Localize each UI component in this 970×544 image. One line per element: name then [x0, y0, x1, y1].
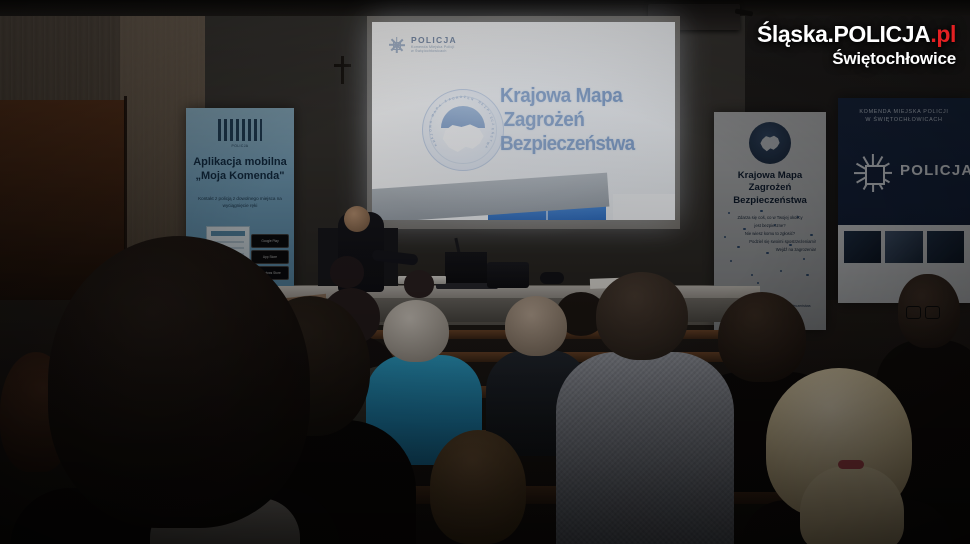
police-star-icon — [388, 36, 405, 53]
emblem-ring-text: KRAJOWA MAPA ZAGROŻEŃ BEZPIECZEŃSTWA — [423, 90, 503, 170]
watermark-tld: .pl — [930, 21, 956, 47]
watermark-line2: Świętochłowice — [757, 49, 956, 68]
banner-right-header: KOMENDA MIEJSKA POLICJI W ŚWIĘTOCHŁOWICA… — [844, 108, 964, 124]
banner-mid-body-line5: Wejdź na zagrozenia! — [724, 246, 816, 254]
slide-logo-title: POLICJA — [411, 36, 457, 45]
store-badge-google-play: Google Play — [251, 234, 289, 248]
audience-head — [505, 296, 567, 356]
slide-policja-logo: POLICJA Komenda Miejska Policji w Święto… — [388, 36, 457, 54]
av-equipment-box — [487, 262, 529, 288]
banner-right-header-line2: W ŚWIĘTOCHŁOWICACH — [844, 116, 964, 124]
banner-right-photo-strip — [844, 231, 964, 263]
audience-head — [404, 270, 434, 298]
banner-mid-emblem-icon — [749, 122, 791, 164]
watermark-line1: Śląska.POLICJA.pl — [757, 22, 956, 48]
banner-left-title-line1: Aplikacja mobilna — [186, 156, 294, 170]
audience-head-white-hair — [383, 300, 449, 362]
banner-mid-title-line1: Krajowa Mapa — [718, 170, 822, 182]
slide-bottom-white-block — [613, 194, 675, 220]
audience-body-checkered-shirt — [556, 352, 734, 544]
projected-slide: POLICJA Komenda Miejska Policji w Święto… — [372, 22, 675, 220]
watermark: Śląska.POLICJA.pl Świętochłowice — [757, 22, 956, 68]
foreground-person-head — [48, 236, 310, 528]
ponytail-hair — [800, 466, 904, 544]
photo-thumb — [885, 231, 922, 263]
banner-mid-title: Krajowa Mapa Zagrożeń Bezpieczeństwa — [718, 170, 822, 207]
slide-logo-sub2: w Świętochłowicach — [411, 50, 457, 54]
audience-head — [330, 256, 364, 288]
kmzb-emblem: KRAJOWA MAPA ZAGROŻEŃ BEZPIECZEŃSTWA — [422, 89, 504, 171]
banner-left-subtitle: POLICJA — [186, 144, 294, 148]
mouse-device — [540, 272, 564, 284]
eyeglasses-icon — [906, 306, 940, 317]
store-badge-app-store: App Store — [251, 250, 289, 264]
audience-head — [596, 272, 688, 360]
banner-mid-body-line4: Podziel się swoimi spostrzeżeniami! — [724, 238, 816, 246]
banner-mid-title-line2: Zagrożeń — [718, 182, 822, 194]
photo-thumb — [927, 231, 964, 263]
banner-left-body: Kontakt z policją z dowolnego miejsca na… — [194, 196, 286, 210]
slide-title-line1: Krajowa Mapa — [500, 84, 655, 108]
audience-head — [430, 430, 526, 544]
slide-title-line2: Zagrożeń — [500, 108, 655, 132]
crucifix-icon — [341, 56, 344, 84]
photograph-conference-presentation: POLICJA Komenda Miejska Policji w Święto… — [0, 0, 970, 544]
banner-left-title: Aplikacja mobilna „Moja Komenda" — [186, 156, 294, 184]
banner-right-wordmark: POLICJA — [900, 162, 970, 179]
banner-mid-body-line3: Nie wiesz komu to zgłosić? — [724, 230, 816, 238]
presenter-head — [344, 206, 370, 232]
slide-title-line3: Bezpieczeństwa — [500, 132, 655, 156]
banner-komenda-miejska: KOMENDA MIEJSKA POLICJI W ŚWIĘTOCHŁOWICA… — [838, 98, 970, 303]
laptop-screen — [445, 252, 487, 286]
slide-title: Krajowa Mapa Zagrożeń Bezpieczeństwa — [500, 84, 655, 155]
photo-thumb — [844, 231, 881, 263]
watermark-main: Śląska.POLICJA — [757, 21, 930, 47]
hair-tie — [838, 460, 864, 469]
police-star-icon — [852, 152, 894, 194]
banner-left-logo-icon — [218, 119, 262, 141]
banner-right-header-line1: KOMENDA MIEJSKA POLICJI — [844, 108, 964, 116]
ceiling-band — [0, 0, 970, 16]
banner-mid-body-line2: jest bezpieczne? — [724, 222, 816, 230]
audience-head-dark-hair — [718, 292, 806, 382]
banner-mid-body-line1: Zdarza się coś, co w Twojej okolicy — [724, 214, 816, 222]
banner-mid-body: Zdarza się coś, co w Twojej okolicy jest… — [724, 214, 816, 254]
banner-left-title-line2: „Moja Komenda" — [186, 170, 294, 184]
banner-mid-title-line3: Bezpieczeństwa — [718, 195, 822, 207]
